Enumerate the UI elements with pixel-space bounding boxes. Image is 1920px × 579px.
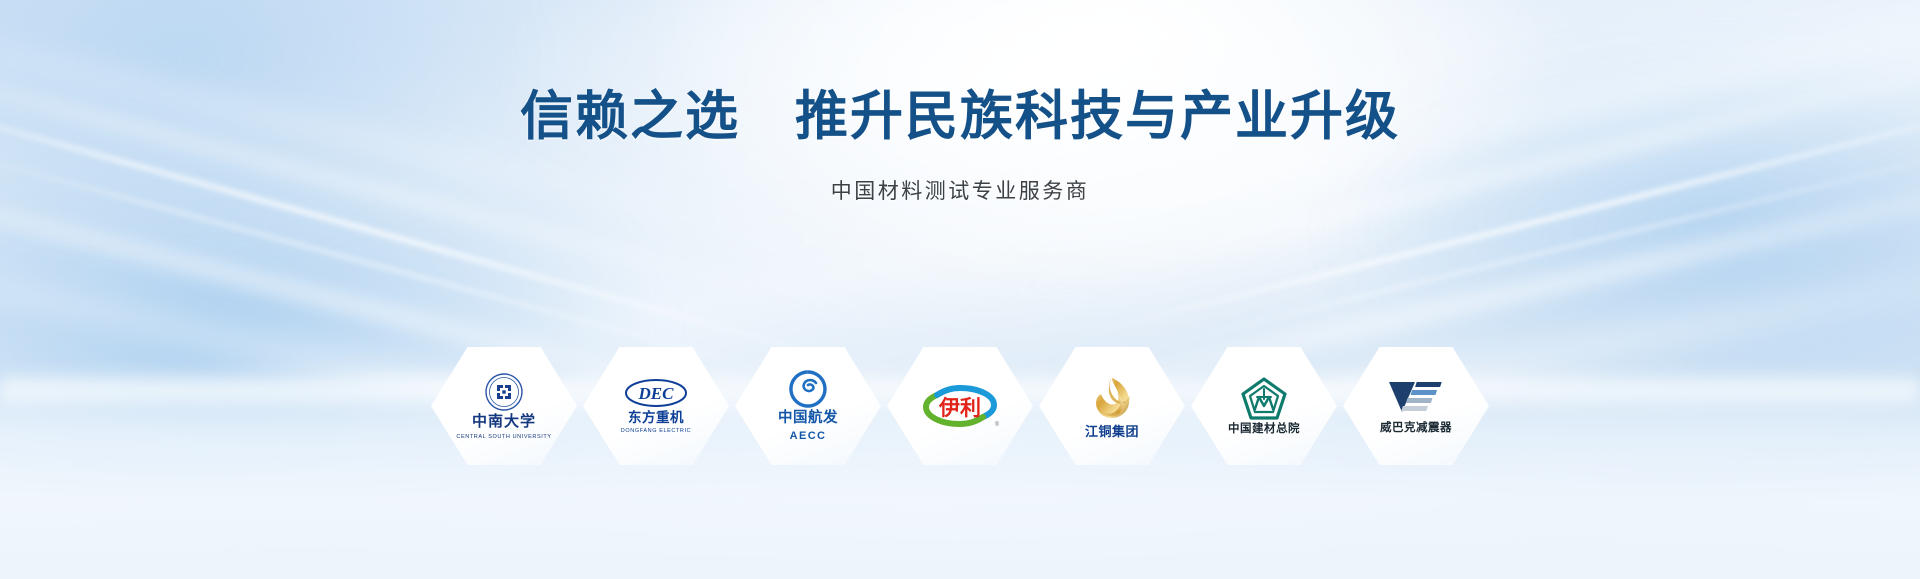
- partner-name-cn: 东方重机: [628, 411, 684, 425]
- partner-name-en: CENTRAL SOUTH UNIVERSITY: [456, 435, 551, 441]
- aecc-logo-icon: [789, 370, 827, 408]
- partner-name-cn: 江铜集团: [1085, 425, 1139, 438]
- central-south-university-logo-icon: [484, 372, 524, 412]
- cbma-logo-icon: [1241, 377, 1287, 421]
- banner-subtitle: 中国材料测试专业服务商: [0, 175, 1920, 205]
- partner-hex-yili[interactable]: 伊利 ®: [887, 347, 1033, 465]
- yili-logo-icon: 伊利 ®: [918, 382, 1002, 430]
- banner-headline: 信赖之选 推升民族科技与产业升级: [0, 88, 1920, 145]
- svg-text:伊利: 伊利: [938, 397, 981, 420]
- partner-hex-vibracoustic[interactable]: 威巴克减震器: [1343, 347, 1489, 465]
- partner-name-cn: 中南大学: [472, 415, 536, 430]
- hero-banner: 信赖之选 推升民族科技与产业升级 中国材料测试专业服务商 中南大学: [0, 0, 1920, 579]
- partner-name-en: AECC: [790, 431, 827, 442]
- dec-logo-icon: DEC: [624, 378, 688, 408]
- partner-name-cn: 中国航发: [778, 411, 838, 426]
- partner-hex-aecc[interactable]: 中国航发 AECC: [735, 347, 881, 465]
- jiangxi-copper-logo-icon: [1088, 374, 1136, 422]
- partner-logo-row: 中南大学 CENTRAL SOUTH UNIVERSITY DEC 东方重机 D…: [0, 347, 1920, 467]
- partner-hex-jiangxi-copper[interactable]: 江铜集团: [1039, 347, 1185, 465]
- svg-text:DEC: DEC: [638, 384, 675, 403]
- partner-hex-central-south-university[interactable]: 中南大学 CENTRAL SOUTH UNIVERSITY: [431, 347, 577, 465]
- svg-text:®: ®: [995, 421, 1000, 428]
- partner-name-cn: 威巴克减震器: [1380, 423, 1452, 435]
- vibracoustic-logo-icon: [1385, 378, 1447, 420]
- banner-copy: 信赖之选 推升民族科技与产业升级 中国材料测试专业服务商: [0, 88, 1920, 205]
- partner-hex-dongfang-electric[interactable]: DEC 东方重机 DONGFANG ELECTRIC: [583, 347, 729, 465]
- partner-hex-cbma[interactable]: 中国建材总院: [1191, 347, 1337, 465]
- partner-name-cn: 中国建材总院: [1228, 424, 1300, 436]
- partner-name-en: DONGFANG ELECTRIC: [621, 429, 691, 435]
